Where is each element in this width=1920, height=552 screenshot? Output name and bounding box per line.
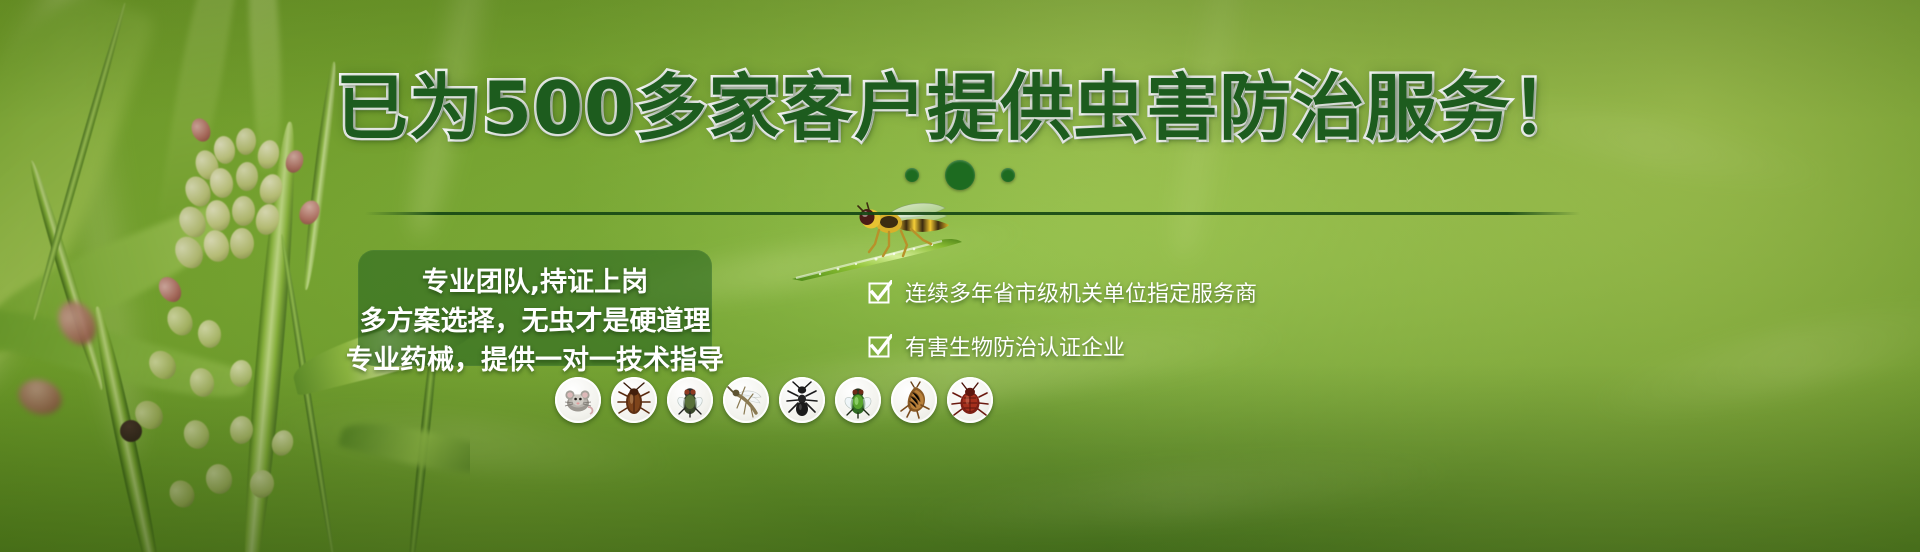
dot-small-left-icon xyxy=(905,168,919,182)
checkbox-checked-icon xyxy=(868,334,892,358)
banner-headline: 已为500多家客户提供虫害防治服务！ xyxy=(0,72,1920,144)
decorative-dots xyxy=(0,160,1920,189)
checklist-item-label: 连续多年省市级机关单位指定服务商 xyxy=(905,276,1257,308)
slogan-line-1: 专业团队,持证上岗 xyxy=(330,260,740,299)
ant-icon[interactable] xyxy=(779,377,825,423)
pest-icon-row xyxy=(555,377,993,423)
mouse-icon[interactable] xyxy=(555,377,601,423)
dot-large-center-icon xyxy=(945,160,975,190)
checklist-item: 连续多年省市级机关单位指定服务商 xyxy=(868,276,1328,308)
housefly-icon[interactable] xyxy=(667,377,713,423)
divider xyxy=(365,212,1580,215)
slogan-line-3: 专业药械，提供一对一技术指导 xyxy=(330,338,740,377)
promo-banner: 已为500多家客户提供虫害防治服务！ 专业团队,持证上岗 多方案选择，无虫才是硬… xyxy=(0,0,1920,552)
mosquito-icon[interactable] xyxy=(723,377,769,423)
checklist-item-label: 有害生物防治认证企业 xyxy=(905,330,1125,362)
hoverfly-illustration xyxy=(845,198,965,268)
greenfly-icon[interactable] xyxy=(835,377,881,423)
checkbox-checked-icon xyxy=(868,280,892,304)
flea-icon[interactable] xyxy=(891,377,937,423)
checklist-item: 有害生物防治认证企业 xyxy=(868,330,1328,362)
dot-small-right-icon xyxy=(1001,168,1015,182)
slogan-panel-lines: 专业团队,持证上岗 多方案选择，无虫才是硬道理 专业药械，提供一对一技术指导 xyxy=(330,254,740,376)
slogan-line-2: 多方案选择，无虫才是硬道理 xyxy=(330,299,740,338)
cockroach-icon[interactable] xyxy=(611,377,657,423)
banner-headline-text: 已为500多家客户提供虫害防治服务！ xyxy=(336,66,1584,150)
checklist: 连续多年省市级机关单位指定服务商 有害生物防治认证企业 xyxy=(868,276,1328,384)
bedbug-icon[interactable] xyxy=(947,377,993,423)
